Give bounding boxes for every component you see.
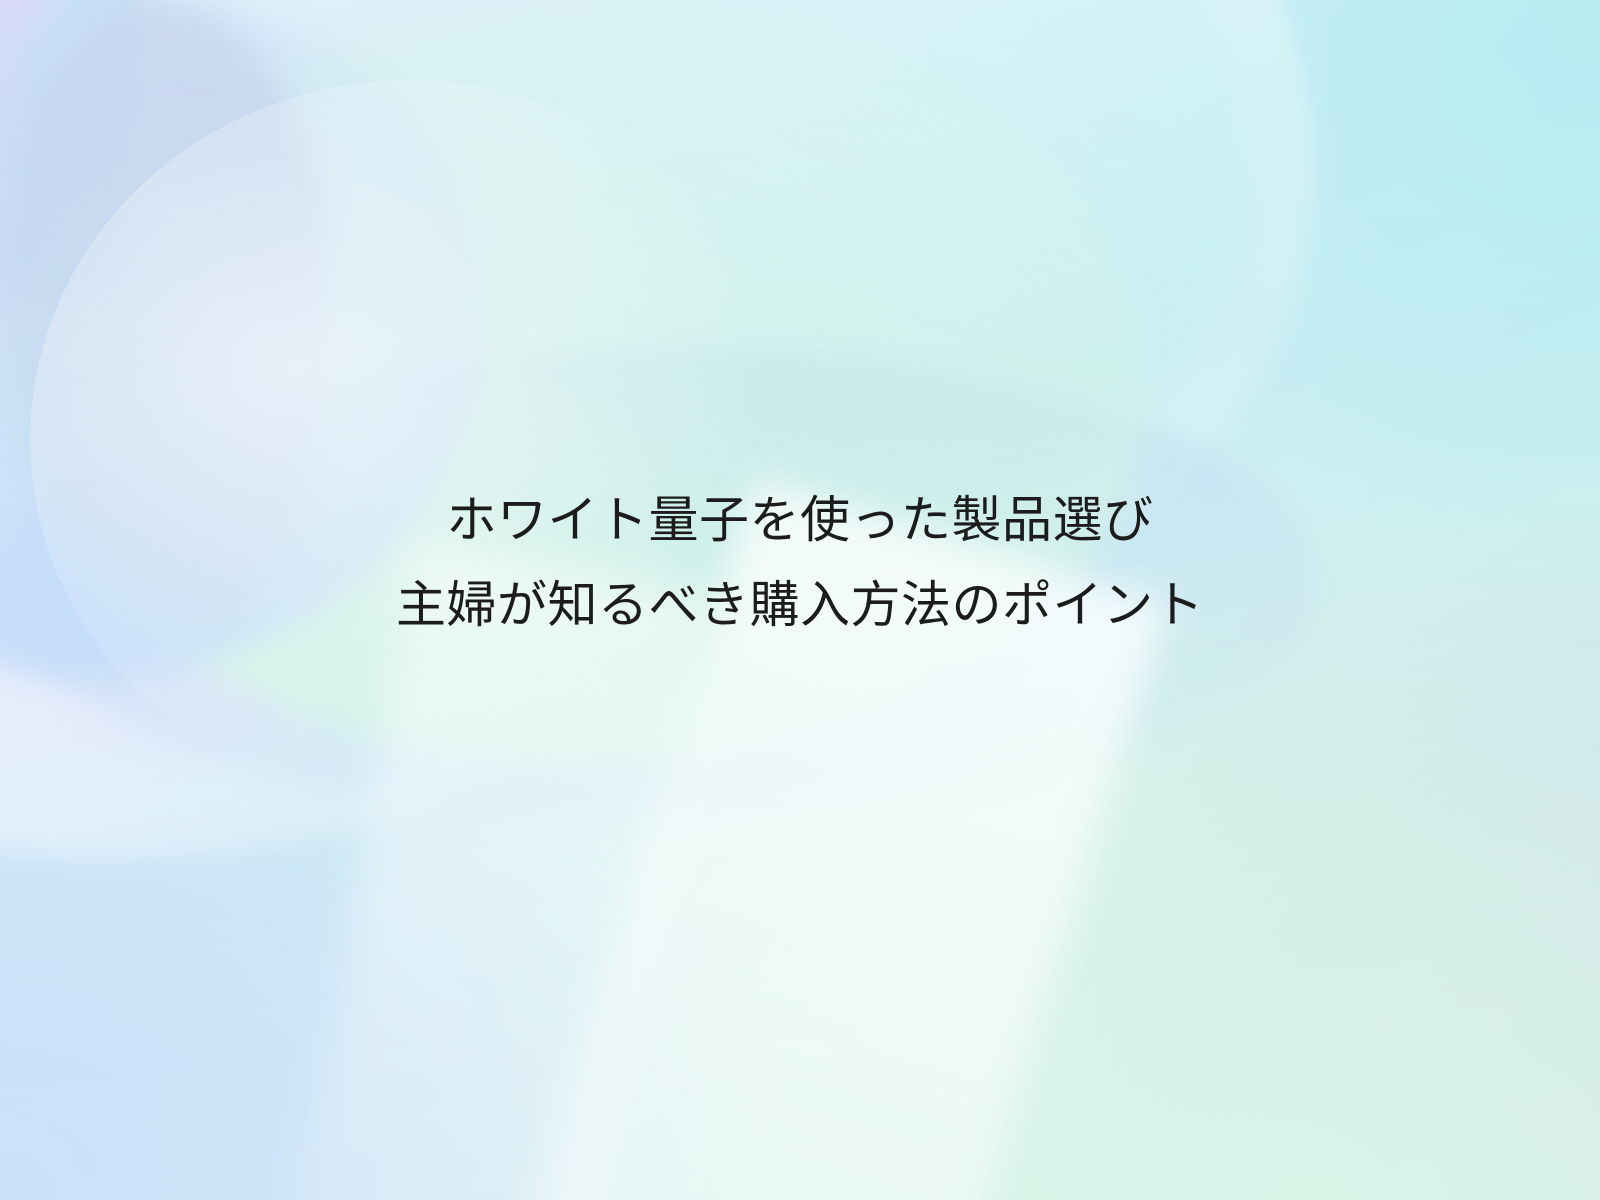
white-radial-highlight-shape [30, 80, 790, 800]
title-block: ホワイト量子を使った製品選び 主婦が知るべき購入方法のポイント [0, 478, 1600, 648]
page-title: ホワイト量子を使った製品選び 主婦が知るべき購入方法のポイント [40, 478, 1560, 648]
title-slide: ホワイト量子を使った製品選び 主婦が知るべき購入方法のポイント [0, 0, 1600, 1200]
